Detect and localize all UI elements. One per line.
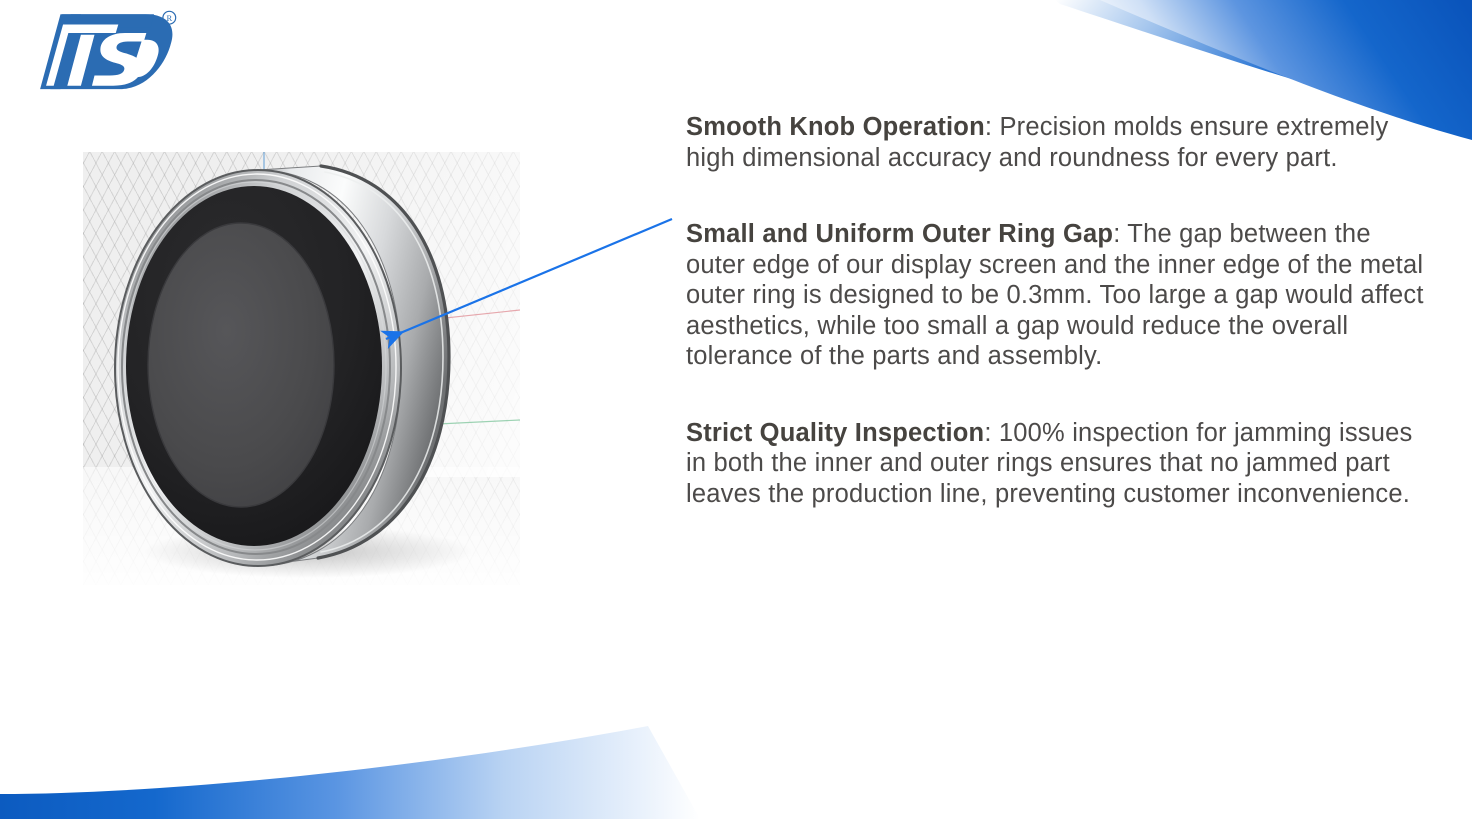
slide-canvas: R xyxy=(0,0,1472,819)
itsd-logo-mark: R xyxy=(18,4,188,96)
feature-separator-1: : xyxy=(985,113,1000,141)
feature-paragraph-3: Strict Quality Inspection: 100% inspecti… xyxy=(686,418,1426,510)
svg-text:R: R xyxy=(166,13,172,23)
feature-paragraph-2: Small and Uniform Outer Ring Gap: The ga… xyxy=(686,219,1426,372)
feature-lead-3: Strict Quality Inspection xyxy=(686,419,984,447)
registered-trademark-icon: R xyxy=(163,11,176,24)
axis-depth-green xyxy=(438,420,520,424)
product-cad-image xyxy=(83,152,520,585)
itsd-logo: R xyxy=(18,4,188,96)
feature-lead-2: Small and Uniform Outer Ring Gap xyxy=(686,220,1113,248)
feature-separator-2: : xyxy=(1113,220,1127,248)
swoosh-top-right-light xyxy=(1055,0,1472,130)
feature-separator-3: : xyxy=(984,419,999,447)
feature-text-column: Smooth Knob Operation: Precision molds e… xyxy=(686,112,1426,509)
swoosh-bottom-left-main xyxy=(0,726,700,819)
cad-knob-drawing xyxy=(83,152,520,585)
feature-lead-1: Smooth Knob Operation xyxy=(686,113,985,141)
knob-display-screen xyxy=(148,223,334,507)
feature-paragraph-1: Smooth Knob Operation: Precision molds e… xyxy=(686,112,1426,173)
